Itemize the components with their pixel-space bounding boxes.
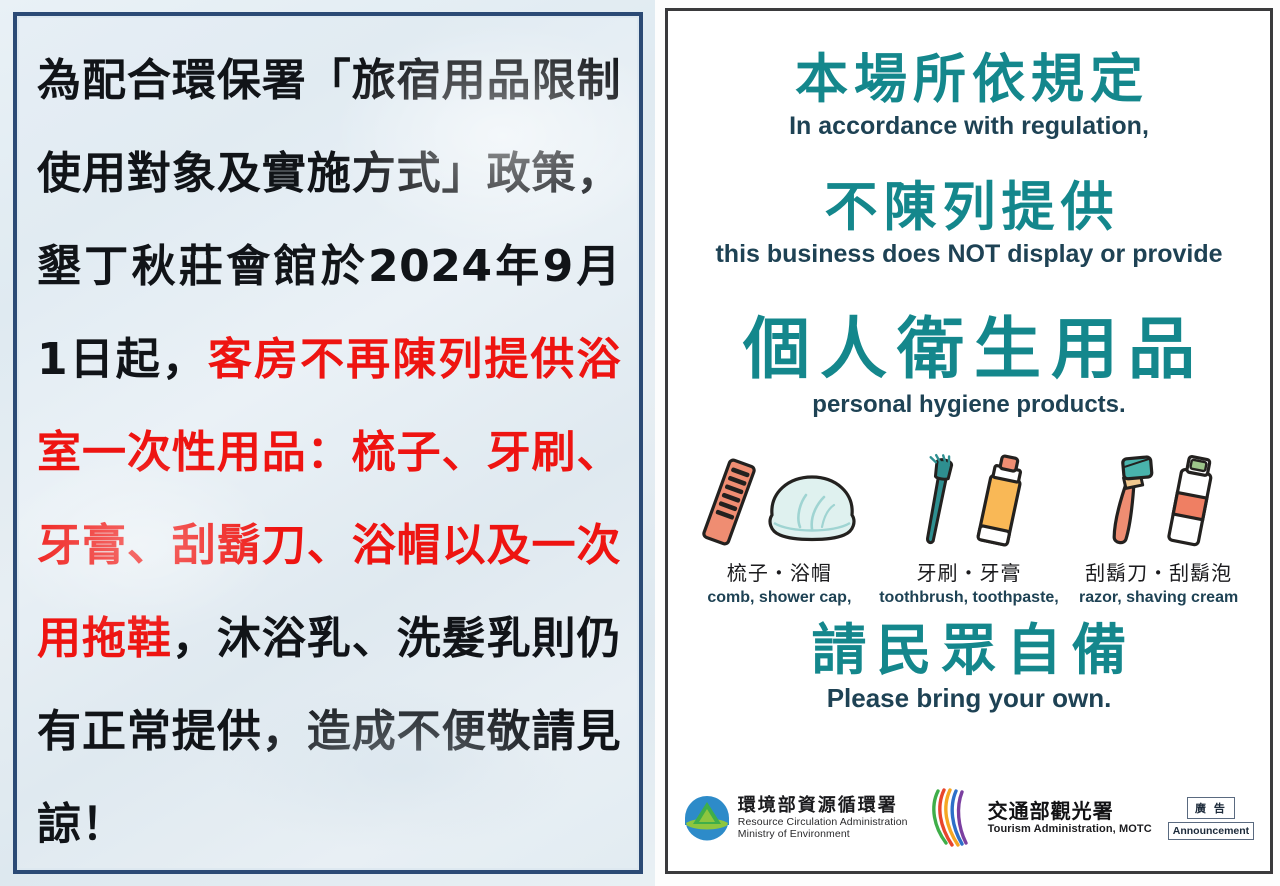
shaving-cream-icon xyxy=(1162,451,1218,551)
poster-footer: 環境部資源循環署 Resource Circulation Administra… xyxy=(668,787,1270,849)
moenv-logo-unit: 環境部資源循環署 Resource Circulation Administra… xyxy=(684,795,908,841)
item-icons-3 xyxy=(1100,451,1218,551)
razor-icon xyxy=(1100,451,1158,551)
item-caption-cn-2: 牙刷・牙膏 xyxy=(916,557,1021,586)
heading-cn-3: 個人衛生用品 xyxy=(668,316,1270,383)
heading-en-2: this business does NOT display or provid… xyxy=(668,241,1270,269)
heading-cn-2: 不陳列提供 xyxy=(668,181,1270,234)
moenv-logo-en-1: Resource Circulation Administration xyxy=(738,816,908,828)
motc-logo-cn: 交通部觀光署 xyxy=(988,800,1152,823)
heading-en-4: Please bring your own. xyxy=(668,684,1270,713)
toothpaste-icon xyxy=(970,451,1030,551)
item-icons-1 xyxy=(698,451,860,551)
item-group-razor-shavingcream: 刮鬍刀・刮鬍泡 razor, shaving cream xyxy=(1065,451,1252,607)
motc-logo-en: Tourism Administration, MOTC xyxy=(988,823,1152,836)
heading-cn-1: 本場所依規定 xyxy=(668,53,1270,106)
announcement-badge: 廣 告 Announcement xyxy=(1168,797,1254,840)
announcement-en: Announcement xyxy=(1168,822,1254,840)
announcement-cn: 廣 告 xyxy=(1187,797,1235,819)
heading-cn-4: 請民眾自備 xyxy=(668,623,1270,678)
heading-en-1: In accordance with regulation, xyxy=(668,113,1270,141)
comb-icon xyxy=(698,453,760,551)
toothbrush-icon xyxy=(908,453,966,551)
shower-cap-icon xyxy=(764,471,860,551)
left-notice-frame: 為配合環保署「旅宿用品限制使用對象及實施方式」政策，墾丁秋莊會館於2024年9月… xyxy=(13,12,643,874)
right-regulation-poster: 本場所依規定 In accordance with regulation, 不陳… xyxy=(665,8,1273,874)
moenv-logo-cn: 環境部資源循環署 xyxy=(738,796,908,817)
motc-logo-unit: 交通部觀光署 Tourism Administration, MOTC xyxy=(928,787,1152,849)
hygiene-items-row: 梳子・浴帽 comb, shower cap, xyxy=(686,451,1252,607)
item-icons-2 xyxy=(908,451,1030,551)
item-caption-en-2: toothbrush, toothpaste, xyxy=(879,589,1059,607)
item-caption-cn-3: 刮鬍刀・刮鬍泡 xyxy=(1085,557,1232,586)
heading-en-3: personal hygiene products. xyxy=(668,392,1270,418)
item-caption-en-1: comb, shower cap, xyxy=(707,589,851,607)
heading-block-1: 本場所依規定 In accordance with regulation, xyxy=(668,53,1270,141)
item-caption-cn-1: 梳子・浴帽 xyxy=(727,557,832,586)
poster-pair-image: 為配合環保署「旅宿用品限制使用對象及實施方式」政策，墾丁秋莊會館於2024年9月… xyxy=(0,0,1280,886)
item-group-comb-showercap: 梳子・浴帽 comb, shower cap, xyxy=(686,451,873,607)
moenv-logo-en-2: Ministry of Environment xyxy=(738,828,908,840)
heading-block-4: 請民眾自備 Please bring your own. xyxy=(668,623,1270,713)
heading-block-2: 不陳列提供 this business does NOT display or … xyxy=(668,181,1270,269)
mountain-recycle-logo-icon xyxy=(684,795,730,841)
item-caption-en-3: razor, shaving cream xyxy=(1079,589,1238,607)
item-group-toothbrush-toothpaste: 牙刷・牙膏 toothbrush, toothpaste, xyxy=(876,451,1063,607)
rainbow-ribbon-logo-icon xyxy=(928,787,980,849)
heading-block-3: 個人衛生用品 personal hygiene products. xyxy=(668,316,1270,418)
notice-text: 為配合環保署「旅宿用品限制使用對象及實施方式」政策，墾丁秋莊會館於2024年9月… xyxy=(37,34,621,871)
left-notice-panel: 為配合環保署「旅宿用品限制使用對象及實施方式」政策，墾丁秋莊會館於2024年9月… xyxy=(0,0,655,886)
